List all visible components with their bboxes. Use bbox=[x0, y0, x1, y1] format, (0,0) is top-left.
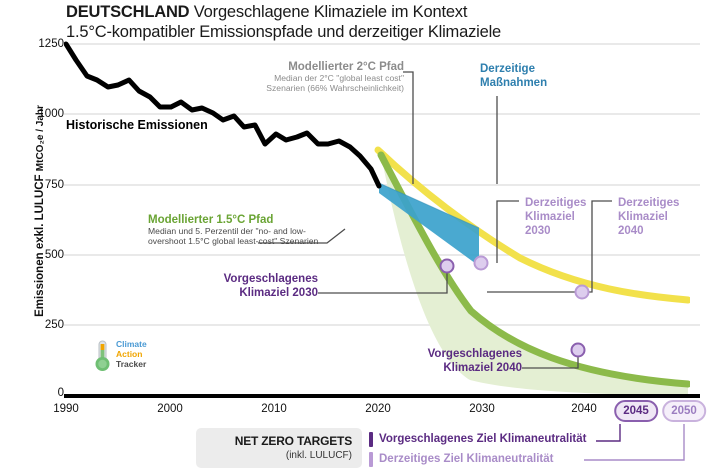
annotation-path-2c-sub1: Median der 2°C "global least cost" bbox=[160, 73, 404, 83]
x-pill-2045[interactable]: 2045 bbox=[614, 400, 658, 422]
logo-line-1: Climate bbox=[116, 339, 147, 349]
netzero-proposed-bar bbox=[369, 432, 373, 447]
annotation-path-2c-sub2: Szenarien (66% Wahrscheinlichkeit) bbox=[160, 83, 404, 93]
annotation-path-2c-head: Modellierter 2°C Pfad bbox=[160, 61, 404, 73]
annotation-current-target-2030-l2: Klimaziel bbox=[525, 210, 586, 224]
annotation-proposed-target-2040: Vorgeschlagenes Klimaziel 2040 bbox=[370, 347, 522, 375]
annotation-proposed-target-2040-l2: Klimaziel 2040 bbox=[370, 361, 522, 375]
y-tick-1000: 1000 bbox=[16, 108, 64, 120]
thermometer-icon bbox=[92, 339, 114, 373]
y-tick-750: 750 bbox=[16, 179, 64, 191]
netzero-targets-box: NET ZERO TARGETS (inkl. LULUCF) bbox=[196, 428, 362, 468]
annotation-current-target-2030-l1: Derzeitiges bbox=[525, 196, 586, 210]
x-tick-2030: 2030 bbox=[469, 403, 495, 415]
y-tick-500: 500 bbox=[16, 249, 64, 261]
netzero-heading: NET ZERO TARGETS bbox=[235, 434, 352, 448]
annotation-current-target-2030-l3: 2030 bbox=[525, 224, 586, 238]
marker-current-target-2030[interactable] bbox=[475, 257, 488, 270]
netzero-leader-lines-current bbox=[584, 424, 684, 460]
y-tick-250: 250 bbox=[16, 319, 64, 331]
annotation-current-policies: Derzeitige Maßnahmen bbox=[480, 62, 547, 90]
netzero-current-bar bbox=[369, 452, 373, 467]
marker-proposed-target-2040[interactable] bbox=[572, 344, 585, 357]
annotation-current-target-2040-l2: Klimaziel bbox=[618, 210, 679, 224]
annotation-path-15c-sub2: overshoot 1.5°C global least-cost" Szena… bbox=[148, 236, 348, 246]
x-tick-1990: 1990 bbox=[53, 403, 79, 415]
annotation-path-2c: Modellierter 2°C Pfad Median der 2°C "gl… bbox=[160, 61, 404, 93]
annotation-path-15c: Modellierter 1.5°C Pfad Median und 5. Pe… bbox=[148, 214, 348, 246]
annotation-current-policies-l2: Maßnahmen bbox=[480, 76, 547, 90]
chart-canvas: DEUTSCHLAND Vorgeschlagene Klimaziele im… bbox=[0, 0, 711, 473]
netzero-proposed-label: Vorgeschlagenes Ziel Klimaneutralität bbox=[379, 433, 587, 445]
netzero-leader-lines bbox=[596, 424, 620, 441]
annotation-current-target-2040-l1: Derzeitiges bbox=[618, 196, 679, 210]
x-pill-2050[interactable]: 2050 bbox=[662, 400, 706, 422]
annotation-proposed-target-2030-l2: Klimaziel 2030 bbox=[166, 286, 318, 300]
annotation-current-policies-l1: Derzeitige bbox=[480, 62, 547, 76]
annotation-proposed-target-2030-l1: Vorgeschlagenes bbox=[166, 272, 318, 286]
logo-line-2: Action bbox=[116, 349, 147, 359]
annotation-proposed-target-2040-l1: Vorgeschlagenes bbox=[370, 347, 522, 361]
annotation-historical: Historische Emissionen bbox=[66, 118, 208, 132]
y-tick-1250: 1250 bbox=[16, 38, 64, 50]
x-tick-2010: 2010 bbox=[261, 403, 287, 415]
netzero-current-label: Derzeitiges Ziel Klimaneutralität bbox=[379, 453, 553, 465]
logo-line-3: Tracker bbox=[116, 359, 147, 369]
annotation-historical-label: Historische Emissionen bbox=[66, 118, 208, 132]
annotation-proposed-target-2030: Vorgeschlagenes Klimaziel 2030 bbox=[166, 272, 318, 300]
annotation-current-target-2040-l3: 2040 bbox=[618, 224, 679, 238]
x-tick-2020: 2020 bbox=[365, 403, 391, 415]
climate-action-tracker-logo: Climate Action Tracker bbox=[92, 339, 166, 373]
y-tick-0: 0 bbox=[16, 387, 64, 399]
annotation-current-target-2040: Derzeitiges Klimaziel 2040 bbox=[618, 196, 679, 238]
annotation-path-15c-sub1: Median und 5. Perzentil der "no- and low… bbox=[148, 226, 348, 236]
marker-proposed-target-2030[interactable] bbox=[441, 260, 454, 273]
annotation-path-15c-head: Modellierter 1.5°C Pfad bbox=[148, 214, 348, 226]
annotation-current-target-2030: Derzeitiges Klimaziel 2030 bbox=[525, 196, 586, 238]
x-tick-2000: 2000 bbox=[157, 403, 183, 415]
x-tick-2040: 2040 bbox=[571, 403, 597, 415]
marker-current-target-2040[interactable] bbox=[576, 286, 589, 299]
netzero-note: (inkl. LULUCF) bbox=[286, 450, 352, 461]
